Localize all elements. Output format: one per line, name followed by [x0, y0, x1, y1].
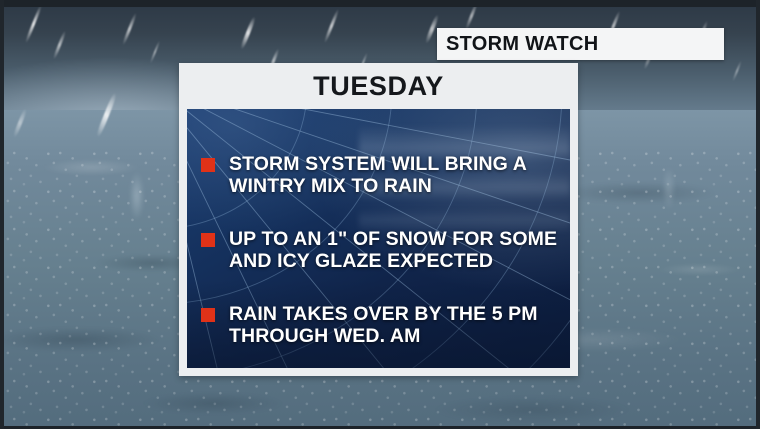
list-item: RAIN TAKES OVER BY THE 5 PM THROUGH WED.…: [201, 303, 560, 347]
forecast-panel-body: STORM SYSTEM WILL BRING A WINTRY MIX TO …: [187, 109, 570, 368]
forecast-panel: TUESDAY: [179, 63, 578, 376]
bullet-square-icon: [201, 308, 215, 322]
frame-edge-left: [0, 0, 4, 429]
letterbox-bar-top: [0, 0, 760, 7]
forecast-bullet-text: UP TO AN 1" OF SNOW FOR SOME AND ICY GLA…: [229, 228, 560, 272]
list-item: STORM SYSTEM WILL BRING A WINTRY MIX TO …: [201, 153, 560, 197]
list-item: UP TO AN 1" OF SNOW FOR SOME AND ICY GLA…: [201, 228, 560, 272]
bullet-square-icon: [201, 158, 215, 172]
forecast-bullet-list: STORM SYSTEM WILL BRING A WINTRY MIX TO …: [201, 153, 560, 368]
forecast-bullet-text: RAIN TAKES OVER BY THE 5 PM THROUGH WED.…: [229, 303, 560, 347]
storm-watch-banner-label: STORM WATCH: [446, 34, 599, 54]
forecast-bullet-text: STORM SYSTEM WILL BRING A WINTRY MIX TO …: [229, 153, 560, 197]
storm-watch-banner: STORM WATCH: [437, 28, 724, 60]
bullet-square-icon: [201, 233, 215, 247]
forecast-panel-day-title: TUESDAY: [179, 63, 578, 109]
frame-edge-right: [756, 0, 760, 429]
broadcast-screen: STORM WATCH TUESDAY: [0, 0, 760, 429]
